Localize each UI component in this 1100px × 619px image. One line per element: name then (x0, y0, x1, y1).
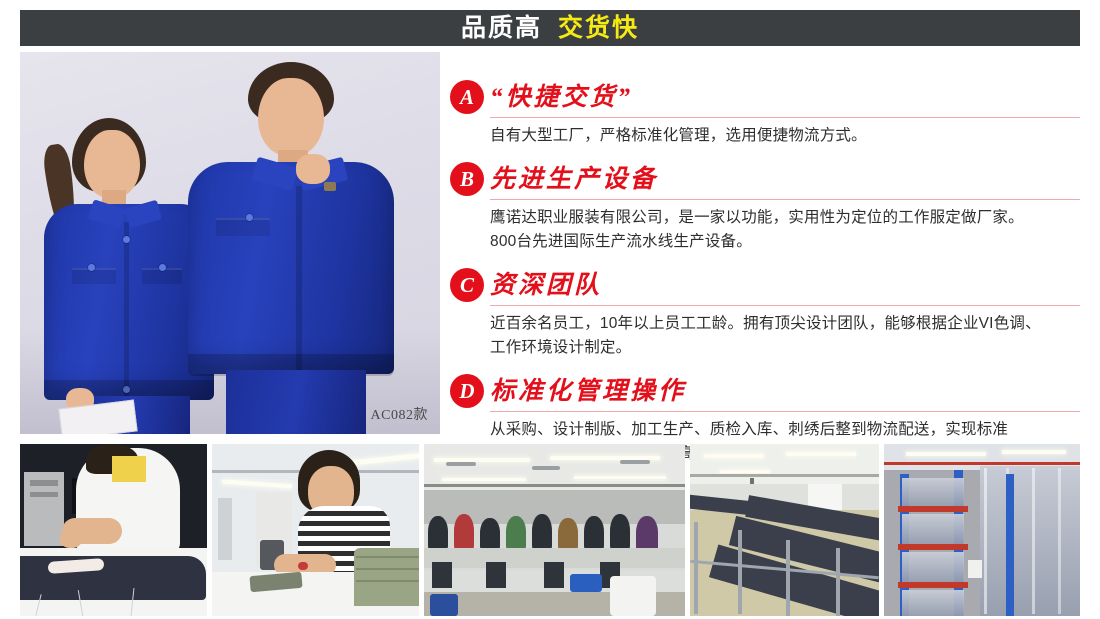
floor-blue-bin (430, 594, 458, 616)
factory-photo-conveyor (690, 444, 879, 616)
male-placket (296, 186, 302, 374)
warehouse-stock-1 (902, 478, 964, 506)
feature-a-divider (490, 117, 1080, 118)
cutting-fabric-stack (20, 556, 206, 600)
floor-blue-garment-pile (570, 574, 602, 592)
factory-photo-strip (20, 444, 1080, 616)
conveyor-leg-1 (694, 522, 698, 614)
warehouse-stock-4 (902, 590, 964, 616)
feature-item-a: A “快捷交货” 自有大型工厂，严格标准化管理，选用便捷物流方式。 (450, 80, 1080, 148)
warehouse-rack-beam-1 (898, 506, 968, 512)
feature-c-body: 近百余名员工，10年以上员工工龄。拥有顶尖设计团队，能够根据企业VI色调、 工作… (490, 312, 1080, 360)
warehouse-light-2 (1002, 450, 1066, 454)
conveyor-ceiling-pipe (690, 474, 879, 477)
feature-d-divider (490, 411, 1080, 412)
female-snap-pocket-right (159, 264, 166, 271)
feature-b-head: B 先进生产设备 (450, 162, 1080, 196)
feature-c-divider (490, 305, 1080, 306)
feature-d-title: 标准化管理操作 (490, 379, 686, 404)
warehouse-garment-sheen-1 (984, 468, 987, 614)
male-snap-pocket (246, 214, 253, 221)
cutting-pc-slot-2 (30, 492, 58, 497)
feature-b-line-1: 鹰诺达职业服装有限公司，是一家以功能，实用性为定位的工作服定做厂家。 (490, 206, 1080, 230)
male-jacket (188, 162, 394, 374)
feature-a-badge-icon: A (450, 80, 484, 114)
warehouse-rack-upright-3 (1006, 474, 1014, 616)
floor-overhead-pipe (424, 484, 685, 487)
cutting-worker-hand (60, 530, 82, 548)
factory-photo-sewing-operator (212, 444, 419, 616)
conveyor-light-3 (720, 470, 770, 473)
warehouse-garment-sheen-4 (1058, 468, 1061, 614)
operator-red-bracelet (298, 562, 308, 570)
factory-photo-cutting (20, 444, 207, 616)
floor-worker-6 (558, 518, 578, 550)
conveyor-leg-3 (786, 540, 790, 616)
feature-d-head: D 标准化管理操作 (450, 374, 1080, 408)
floor-worker-2 (454, 514, 474, 550)
female-placket (124, 222, 129, 400)
factory-photo-sewing-floor (424, 444, 685, 616)
feature-c-head: C 资深团队 (450, 268, 1080, 302)
floor-worker-8 (610, 514, 630, 550)
header-banner: 品质高交货快 (20, 10, 1080, 46)
feature-b-title: 先进生产设备 (490, 167, 658, 192)
warehouse-hanging-garments (980, 466, 1080, 616)
floor-worker-9 (636, 516, 658, 552)
warehouse-garment-sheen-3 (1032, 468, 1035, 614)
floor-worker-1 (428, 516, 448, 550)
sewing-fabric-layer-2 (356, 568, 419, 570)
conveyor-ceiling (690, 444, 879, 484)
floor-light-4 (574, 476, 666, 479)
warehouse-sprinkler-pipe (884, 462, 1080, 465)
warehouse-light-1 (906, 452, 986, 456)
warehouse-rack-beam-3 (898, 582, 968, 588)
banner-title: 品质高交货快 (461, 16, 639, 41)
male-head (258, 78, 324, 156)
sewing-post-left (218, 498, 232, 560)
feature-b-divider (490, 199, 1080, 200)
cutting-worker-badge (112, 456, 146, 482)
conveyor-light-2 (786, 452, 856, 456)
floor-white-cloth (610, 576, 656, 616)
male-pocket-chest (216, 218, 270, 236)
floor-worker-3 (480, 518, 500, 550)
sewing-fabric-layer-1 (356, 556, 419, 558)
feature-b-badge-icon: B (450, 162, 484, 196)
product-model-code: AC082款 (371, 404, 428, 424)
feature-c-badge-icon: C (450, 268, 484, 302)
conveyor-leg-4 (836, 548, 840, 616)
floor-machine-3 (544, 562, 564, 588)
male-wristwatch (324, 182, 336, 191)
floor-worker-7 (584, 516, 604, 550)
feature-c-line-2: 工作环境设计制定。 (490, 336, 1080, 360)
female-head (84, 130, 140, 198)
male-hand (296, 154, 330, 184)
warehouse-stock-2 (902, 514, 964, 544)
floor-worker-4 (506, 516, 526, 550)
female-snap-top (123, 236, 130, 243)
floor-machine-2 (486, 562, 506, 588)
warehouse-rack-beam-2 (898, 544, 968, 550)
feature-list: A “快捷交货” 自有大型工厂，严格标准化管理，选用便捷物流方式。 B 先进生产… (450, 80, 1080, 480)
conveyor-light-1 (704, 454, 764, 458)
feature-c-title: 资深团队 (490, 273, 602, 298)
floor-ceiling-fan-1 (446, 462, 476, 466)
banner-title-secondary: 交货快 (558, 14, 639, 42)
floor-worker-5 (532, 514, 552, 550)
sewing-fabric-layer-3 (356, 580, 419, 582)
floor-ceiling-fan-3 (620, 460, 650, 464)
model-male (188, 62, 398, 434)
feature-d-badge-icon: D (450, 374, 484, 408)
marketing-page: 品质高交货快 (0, 0, 1100, 619)
male-trousers (226, 370, 366, 434)
factory-photo-warehouse (884, 444, 1080, 616)
feature-a-line-1: 自有大型工厂，严格标准化管理，选用便捷物流方式。 (490, 124, 1080, 148)
feature-d-line-1: 从采购、设计制版、加工生产、质检入库、刺绣后整到物流配送，实现标准 (490, 418, 1080, 442)
floor-ceiling-fan-2 (532, 466, 560, 470)
feature-item-c: C 资深团队 近百余名员工，10年以上员工工龄。拥有顶尖设计团队，能够根据企业V… (450, 268, 1080, 360)
floor-machine-1 (432, 562, 452, 588)
banner-title-primary: 品质高 (461, 14, 542, 42)
feature-item-b: B 先进生产设备 鹰诺达职业服装有限公司，是一家以功能，实用性为定位的工作服定做… (450, 162, 1080, 254)
feature-c-line-1: 近百余名员工，10年以上员工工龄。拥有顶尖设计团队，能够根据企业VI色调、 (490, 312, 1080, 336)
warehouse-stock-3 (902, 552, 964, 582)
female-snap-pocket-left (88, 264, 95, 271)
hero-section: AC082款 A “快捷交货” 自有大型工厂，严格标准化管理，选用便捷物流方式。… (20, 52, 1080, 434)
female-pocket-left (72, 268, 116, 284)
feature-a-title: “快捷交货” (490, 85, 633, 110)
warehouse-label-tag (968, 560, 982, 578)
cutting-pc-slot (30, 480, 58, 486)
feature-a-body: 自有大型工厂，严格标准化管理，选用便捷物流方式。 (490, 124, 1080, 148)
feature-b-body: 鹰诺达职业服装有限公司，是一家以功能，实用性为定位的工作服定做厂家。 800台先… (490, 206, 1080, 254)
floor-light-3 (442, 478, 526, 481)
product-photo: AC082款 (20, 52, 440, 434)
feature-a-head: A “快捷交货” (450, 80, 1080, 114)
feature-b-line-2: 800台先进国际生产流水线生产设备。 (490, 230, 1080, 254)
conveyor-leg-2 (738, 530, 742, 614)
